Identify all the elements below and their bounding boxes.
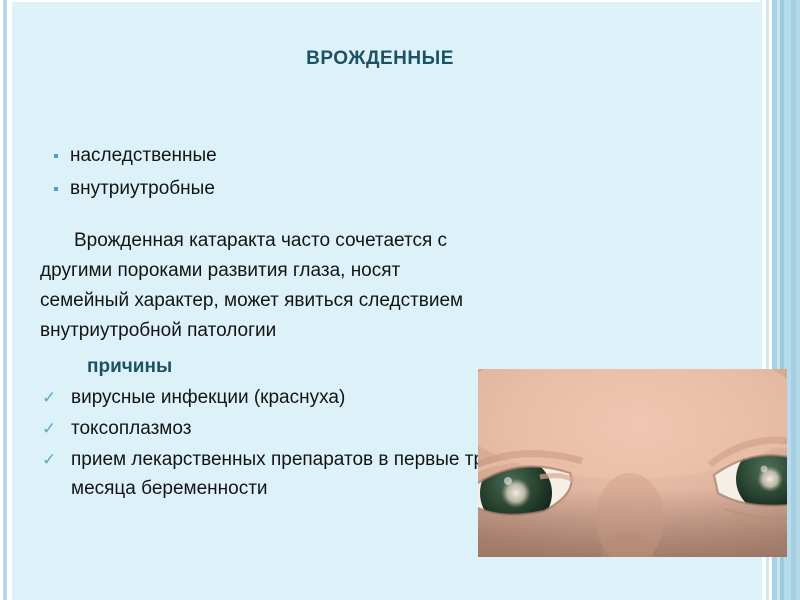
bullet-list: наследственные внутриутробные <box>40 140 510 204</box>
slide-top-edge <box>0 0 800 2</box>
list-item: ✓ токсоплазмоз <box>40 414 510 443</box>
slide-title: Врожденные <box>40 38 720 72</box>
check-icon: ✓ <box>42 414 56 443</box>
check-icon: ✓ <box>42 383 56 412</box>
bullet-label: наследственные <box>70 145 217 166</box>
reason-label: вирусные инфекции (краснуха) <box>71 387 345 408</box>
check-icon: ✓ <box>42 445 56 474</box>
reason-label: прием лекарственных препаратов в первые … <box>71 449 495 499</box>
photo-graphic <box>478 369 787 557</box>
slide-left-padding <box>7 0 12 600</box>
list-item: внутриутробные <box>40 173 510 204</box>
reason-label: токсоплазмоз <box>71 418 191 439</box>
body-paragraph: Врожденная катаракта часто сочетается с … <box>40 226 485 346</box>
bullet-label: внутриутробные <box>70 178 215 199</box>
list-item: ✓ прием лекарственных препаратов в первы… <box>40 445 510 503</box>
list-item: ✓ вирусные инфекции (краснуха) <box>40 383 510 412</box>
list-item: наследственные <box>40 140 510 171</box>
infant-cataract-photo <box>478 369 787 557</box>
slide: Врожденные наследственные внутриутробные… <box>0 0 800 600</box>
reasons-list: ✓ вирусные инфекции (краснуха) ✓ токсопл… <box>40 383 510 503</box>
slide-body: наследственные внутриутробные Врожденная… <box>40 140 510 505</box>
reasons-heading: причины <box>40 350 510 383</box>
